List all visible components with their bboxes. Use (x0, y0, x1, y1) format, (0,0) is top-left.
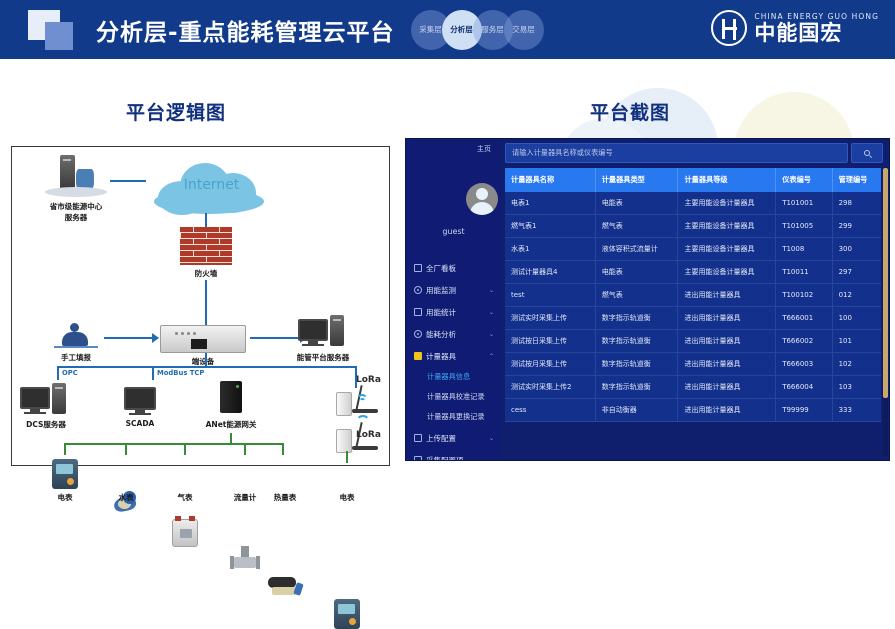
sidebar-item-energy-monitor[interactable]: 用能监测 ⌄ (406, 279, 501, 301)
table-cell: 水表1 (505, 238, 595, 261)
table-cell: 测试实时采集上传2 (505, 376, 595, 399)
app-header: 分析层-重点能耗管理云平台 采集层 分析层 服务层 交易层 CHINA ENER… (0, 0, 895, 59)
platform-logic-diagram: 省市级能源中心 服务器 Internet 防火墙 手工填报 端设备 (11, 146, 390, 466)
avatar[interactable] (466, 183, 498, 215)
table-cell: T666002 (776, 330, 832, 353)
meter-flow-icon (228, 545, 262, 573)
internet-cloud-icon: Internet (154, 159, 269, 217)
internet-label: Internet (154, 177, 269, 193)
province-server-base (45, 187, 107, 197)
table-cell: 100 (832, 307, 881, 330)
meter-electric-2-icon (334, 599, 360, 629)
table-cell: 297 (832, 261, 881, 284)
logo-text-cn: 中能国宏 (754, 23, 879, 44)
table-cell: 进出用能计量器具 (678, 330, 776, 353)
table-row[interactable]: 水表1液体容积式流量计主要用能设备计量器具T1008300 (505, 238, 881, 261)
arrow-manual-edge (152, 333, 159, 343)
table-cell: 燃气表1 (505, 215, 595, 238)
section-title-left: 平台逻辑图 (126, 98, 226, 125)
bus-drop-scada (152, 366, 154, 380)
chevron-down-icon[interactable]: ⌄ (489, 435, 494, 442)
sidebar-item-label: 能耗分析 (426, 329, 456, 340)
table-scrollbar[interactable] (883, 168, 888, 456)
table-cell: 进出用能计量器具 (678, 307, 776, 330)
lora-unit-1-body (336, 392, 352, 416)
sidebar-menu: 全厂看板 用能监测 ⌄ 用能统计 ⌄ 能耗分析 ⌄ 计量器具 ⌃ (406, 257, 501, 461)
green-drop-5 (282, 443, 284, 455)
scrollbar-thumb[interactable] (883, 168, 888, 398)
table-cell: 电表1 (505, 192, 595, 215)
table-cell: T1008 (776, 238, 832, 261)
table-cell: 主要用能设备计量器具 (678, 215, 776, 238)
square-dark (45, 22, 73, 50)
table-row[interactable]: 测试实时采集上传数字指示轨道衡进出用能计量器具T666001100 (505, 307, 881, 330)
manual-entry-label: 手工填报 (36, 352, 116, 363)
sidebar-subitem-replacement-records[interactable]: 计量器具更换记录 (406, 407, 501, 427)
link-firewall-edge (205, 280, 207, 325)
chevron-down-icon[interactable]: ⌄ (489, 309, 494, 316)
protocol-opc-label: OPC (62, 369, 78, 377)
table-cell: T666004 (776, 376, 832, 399)
meter-gas-icon (172, 519, 198, 547)
link-server-internet (110, 180, 146, 182)
table-row[interactable]: 燃气表1燃气表主要用能设备计量器具T101005299 (505, 215, 881, 238)
meter-label-gas: 气表 (155, 492, 215, 503)
table-cell: 进出用能计量器具 (678, 376, 776, 399)
table-cell: 298 (832, 192, 881, 215)
province-server-tower-icon (60, 155, 75, 189)
lora-label-1: LoRa (356, 375, 381, 385)
table-row[interactable]: 测试计量器具4电能表主要用能设备计量器具T10011297 (505, 261, 881, 284)
table-cell: 测试按日采集上传 (505, 330, 595, 353)
bus-drop-dcs (57, 366, 59, 380)
meter-electric-1-icon (52, 459, 78, 489)
table-cell: 102 (832, 353, 881, 376)
col-mgmt-no[interactable]: 管理编号 (832, 168, 881, 192)
dcs-server-label: DCS服务器 (14, 419, 78, 430)
table-cell: 103 (832, 376, 881, 399)
anet-gateway-icon (220, 381, 242, 413)
table-cell: 299 (832, 215, 881, 238)
company-logo: CHINA ENERGY GUO HONG 中能国宏 (711, 10, 879, 46)
chevron-down-icon[interactable]: ⌄ (489, 331, 494, 338)
table-cell: T101001 (776, 192, 832, 215)
sidebar-item-measuring-instruments[interactable]: 计量器具 ⌃ (406, 345, 501, 367)
platform-server-monitor-foot (302, 344, 324, 346)
table-cell: 主要用能设备计量器具 (678, 192, 776, 215)
table-cell: 电能表 (595, 261, 678, 284)
page-title: 分析层-重点能耗管理云平台 (96, 13, 395, 47)
table-header-row: 计量器具名称 计量器具类型 计量器具等级 仪表编号 管理编号 (505, 168, 881, 192)
scada-label: SCADA (112, 419, 168, 428)
instruments-table: 计量器具名称 计量器具类型 计量器具等级 仪表编号 管理编号 电表1电能表主要用… (505, 168, 881, 422)
table-cell: 101 (832, 330, 881, 353)
analysis-icon (414, 330, 422, 338)
lora-unit-2-body (336, 429, 352, 453)
lora-signal-icon-2 (356, 415, 370, 429)
link-edge-bus (205, 353, 207, 367)
sidebar-username: guest (406, 227, 501, 236)
logo-mark-icon (711, 10, 747, 46)
search-row: 请输入计量器具名称或仪表编号 (505, 143, 883, 163)
table-cell: 进出用能计量器具 (678, 353, 776, 376)
sidebar-item-label: 计量器具 (426, 351, 456, 362)
table-row[interactable]: 电表1电能表主要用能设备计量器具T101001298 (505, 192, 881, 215)
col-name[interactable]: 计量器具名称 (505, 168, 595, 192)
sidebar-item-label: 上传配置 (426, 433, 456, 444)
table-cell: 数字指示轨道衡 (595, 330, 678, 353)
manual-entry-person-body (62, 332, 88, 346)
screenshot-main: 请输入计量器具名称或仪表编号 计量器具名称 计量器具类型 计量器具等级 仪表编号… (501, 139, 889, 460)
table-cell: 燃气表 (595, 215, 678, 238)
sidebar-item-collection-config[interactable]: 采集配置项 ⌄ (406, 449, 501, 461)
chevron-down-icon[interactable]: ⌄ (489, 287, 494, 294)
sidebar-item-label: 用能统计 (426, 307, 456, 318)
meter-label-heat: 热量表 (255, 492, 315, 503)
green-bus-horizontal (64, 443, 284, 445)
upload-icon (414, 434, 422, 442)
table-row[interactable]: 测试按月采集上传数字指示轨道衡进出用能计量器具T666003102 (505, 353, 881, 376)
table-cell: 测试按月采集上传 (505, 353, 595, 376)
table-cell: 测试计量器具4 (505, 261, 595, 284)
sidebar-item-label: 用能监测 (426, 285, 456, 296)
table-cell: 012 (832, 284, 881, 307)
col-type[interactable]: 计量器具类型 (595, 168, 678, 192)
province-server-label-line1: 省市级能源中心 (36, 201, 116, 212)
sidebar-home-link[interactable]: 主页 (477, 144, 491, 154)
meter-heat-icon (268, 575, 302, 601)
table-cell: cess (505, 399, 595, 422)
province-server-disk-icon (76, 169, 94, 189)
green-drop-2 (125, 443, 127, 455)
table-cell: 电能表 (595, 192, 678, 215)
table-cell: T99999 (776, 399, 832, 422)
table-cell: 333 (832, 399, 881, 422)
lora-signal-icon-1b (359, 398, 366, 405)
firewall-icon (180, 227, 232, 265)
chevron-down-icon[interactable]: ⌄ (489, 457, 494, 462)
layer-badge-trade[interactable]: 交易层 (504, 10, 544, 50)
table-cell: 主要用能设备计量器具 (678, 261, 776, 284)
table-cell: 测试实时采集上传 (505, 307, 595, 330)
sidebar-item-energy-analysis[interactable]: 能耗分析 ⌄ (406, 323, 501, 345)
search-button[interactable] (851, 143, 883, 163)
sidebar-item-energy-stats[interactable]: 用能统计 ⌄ (406, 301, 501, 323)
sidebar-subitem-instrument-info[interactable]: 计量器具信息 (406, 367, 501, 387)
logo-mark-bar (733, 19, 736, 40)
table-cell: 非自动衡器 (595, 399, 678, 422)
sidebar-item-dashboard[interactable]: 全厂看板 (406, 257, 501, 279)
search-input[interactable]: 请输入计量器具名称或仪表编号 (505, 143, 848, 163)
green-drop-right (346, 451, 348, 463)
sidebar-item-label: 采集配置项 (426, 455, 464, 462)
col-meter-no[interactable]: 仪表编号 (776, 168, 832, 192)
green-drop-3 (184, 443, 186, 455)
link-manual-edge (104, 337, 154, 339)
table-cell: 300 (832, 238, 881, 261)
edge-device-icon (160, 325, 246, 353)
manual-entry-desk (54, 346, 98, 348)
collect-icon (414, 456, 422, 461)
platform-screenshot: 主页 guest 全厂看板 用能监测 ⌄ 用能统计 ⌄ 能耗分析 (405, 138, 890, 461)
lora-unit-2-base (352, 446, 378, 450)
table-row[interactable]: cess非自动衡器进出用能计量器具T99999333 (505, 399, 881, 422)
table-cell: 主要用能设备计量器具 (678, 238, 776, 261)
meter-label-water: 水表 (96, 492, 156, 503)
header-logo-squares (28, 10, 84, 50)
dcs-monitor-icon (20, 387, 50, 409)
meter-label-electric-2: 电表 (317, 492, 377, 503)
table-cell: 进出用能计量器具 (678, 399, 776, 422)
green-drop-1 (64, 443, 66, 455)
logo-text-en: CHINA ENERGY GUO HONG (754, 12, 879, 21)
stats-icon (414, 308, 422, 316)
province-server-label-line2: 服务器 (36, 212, 116, 223)
platform-server-tower-icon (330, 315, 344, 346)
platform-server-monitor-icon (298, 319, 328, 341)
table-row[interactable]: test燃气表进出用能计量器具T100102012 (505, 284, 881, 307)
table-cell: 数字指示轨道衡 (595, 307, 678, 330)
sidebar-item-upload-config[interactable]: 上传配置 ⌄ (406, 427, 501, 449)
table-cell: 数字指示轨道衡 (595, 353, 678, 376)
bus-horizontal (57, 366, 357, 368)
table-row[interactable]: 测试实时采集上传2数字指示轨道衡进出用能计量器具T666004103 (505, 376, 881, 399)
table-cell: 数字指示轨道衡 (595, 376, 678, 399)
section-title-right: 平台截图 (590, 98, 670, 125)
protocol-modbus-label: ModBus TCP (157, 369, 204, 377)
table-cell: T10011 (776, 261, 832, 284)
lora-unit-1-base (352, 409, 378, 413)
meter-icon (414, 352, 422, 360)
search-icon (864, 150, 870, 156)
table-body: 电表1电能表主要用能设备计量器具T101001298燃气表1燃气表主要用能设备计… (505, 192, 881, 422)
dcs-tower-icon (52, 383, 66, 414)
dashboard-icon (414, 264, 422, 272)
firewall-label: 防火墙 (166, 268, 246, 279)
platform-server-label: 能管平台服务器 (278, 352, 368, 363)
table-cell: T666001 (776, 307, 832, 330)
dcs-monitor-foot (24, 412, 46, 414)
table-cell: test (505, 284, 595, 307)
col-grade[interactable]: 计量器具等级 (678, 168, 776, 192)
table-cell: T100102 (776, 284, 832, 307)
screenshot-sidebar: 主页 guest 全厂看板 用能监测 ⌄ 用能统计 ⌄ 能耗分析 (406, 139, 501, 460)
table-cell: 燃气表 (595, 284, 678, 307)
table-head: 计量器具名称 计量器具类型 计量器具等级 仪表编号 管理编号 (505, 168, 881, 192)
link-edge-platform (250, 337, 302, 339)
anet-gateway-label: ANet能源网关 (198, 419, 264, 430)
scada-monitor-foot (129, 413, 151, 415)
lora-label-2: LoRa (356, 430, 381, 440)
layer-badge-group: 采集层 分析层 服务层 交易层 (411, 10, 544, 50)
scada-monitor-icon (124, 387, 156, 410)
chevron-up-icon[interactable]: ⌃ (489, 353, 494, 360)
sidebar-subitem-calibration-records[interactable]: 计量器具校准记录 (406, 387, 501, 407)
table-cell: T666003 (776, 353, 832, 376)
meter-label-electric-1: 电表 (35, 492, 95, 503)
sidebar-item-label: 全厂看板 (426, 263, 456, 274)
table-cell: 液体容积式流量计 (595, 238, 678, 261)
table-row[interactable]: 测试按日采集上传数字指示轨道衡进出用能计量器具T666002101 (505, 330, 881, 353)
table-cell: T101005 (776, 215, 832, 238)
green-drop-4 (244, 443, 246, 455)
table-cell: 进出用能计量器具 (678, 284, 776, 307)
manual-entry-person-head (70, 323, 79, 332)
monitor-icon (414, 286, 422, 294)
